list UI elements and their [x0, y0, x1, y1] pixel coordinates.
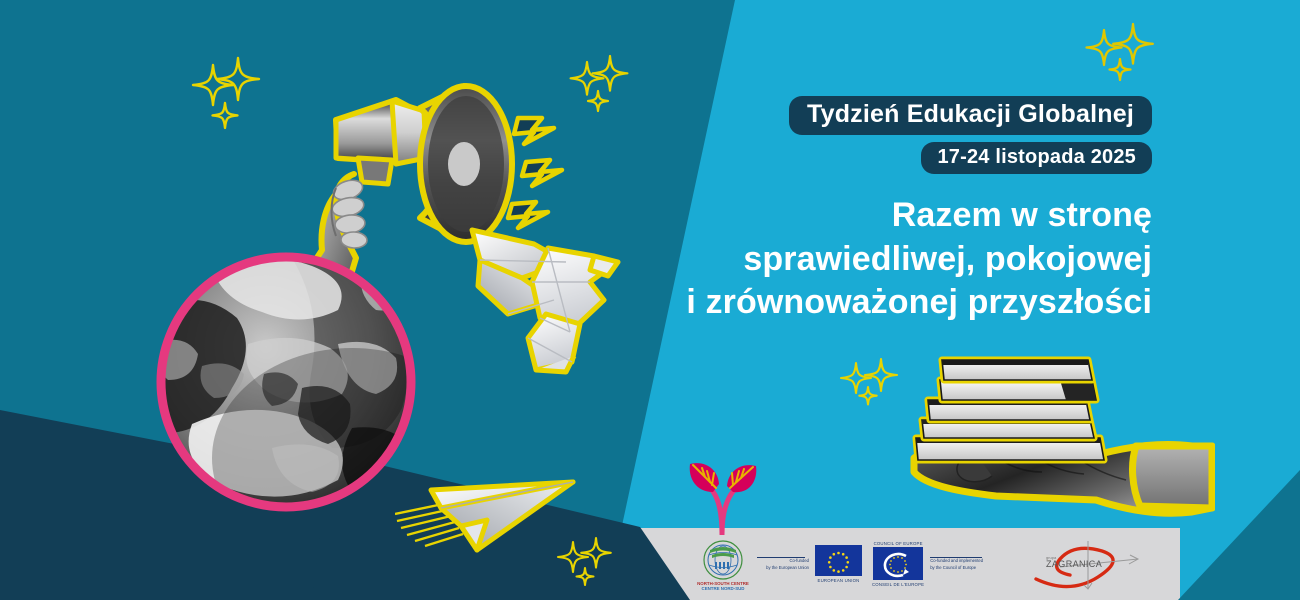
nsc-caption-2: CENTRE NORD-SUD	[702, 586, 745, 591]
funder-logos: NORTH-SOUTH CENTRE CENTRE NORD-SUD Co-fu…	[695, 534, 1148, 594]
headline-line-1: Razem w stronę	[686, 194, 1152, 238]
council-of-europe-flag: COUNCIL OF EUROPE CONSEIL DE	[872, 541, 924, 588]
grupa-zagranica-logo: grupa ZAGRANICA	[1030, 537, 1148, 591]
globe-illustration	[152, 248, 420, 516]
coe-text-line-1: Co-funded and implemented	[930, 558, 986, 564]
sprout-illustration	[688, 450, 758, 535]
origami-dove-illustration	[462, 222, 622, 377]
event-title-pill: Tydzień Edukacji Globalnej	[789, 96, 1152, 135]
sparkles-icon	[1076, 16, 1171, 88]
sparkles-icon	[178, 48, 283, 138]
coe-text-line-2: by the Council of Europe	[930, 565, 986, 571]
campaign-banner: Tydzień Edukacji Globalnej 17-24 listopa…	[0, 0, 1300, 600]
books-on-hand-illustration	[900, 350, 1215, 525]
coe-top-caption: COUNCIL OF EUROPE	[874, 541, 923, 546]
eu-text-line-2: by the European Union	[757, 565, 809, 571]
headline-line-2: sprawiedliwej, pokojowej	[686, 238, 1152, 282]
headline-line-3: i zrównoważonej przyszłości	[686, 281, 1152, 325]
coe-bottom-caption: CONSEIL DE L'EUROPE	[872, 582, 924, 587]
event-dates-pill: 17-24 listopada 2025	[921, 142, 1152, 174]
headline-block: Tydzień Edukacji Globalnej 17-24 listopa…	[686, 96, 1152, 325]
zagranica-text-main: ZAGRANICA	[1046, 559, 1102, 569]
coe-funding-statement: Co-funded and implemented by the Council…	[930, 557, 986, 570]
eu-flag-graphic	[815, 545, 862, 576]
north-south-centre-logo: NORTH-SOUTH CENTRE CENTRE NORD-SUD	[695, 537, 751, 591]
coe-flag-graphic	[873, 547, 923, 580]
eu-funding-statement: Co-funded by the European Union	[757, 557, 809, 570]
eu-flag-caption: EUROPEAN UNION	[818, 578, 860, 583]
european-union-flag: EUROPEAN UNION	[815, 545, 862, 583]
headline-text: Razem w stronę sprawiedliwej, pokojowej …	[686, 194, 1152, 325]
paper-plane-illustration	[395, 468, 585, 553]
